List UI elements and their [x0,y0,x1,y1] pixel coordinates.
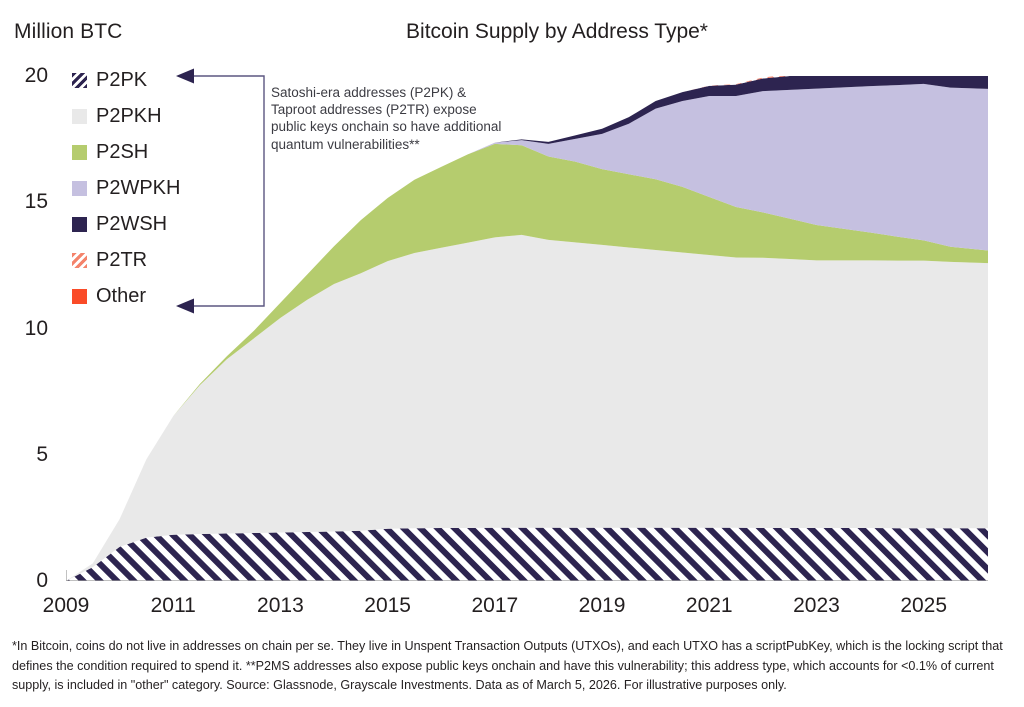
legend-item-p2sh[interactable]: P2SH [72,134,202,170]
x-tick-label: 2021 [686,594,733,618]
legend-label: P2WSH [96,213,167,236]
legend-label: P2SH [96,141,148,164]
x-tick-label: 2023 [793,594,840,618]
legend-item-p2tr[interactable]: P2TR [72,242,202,278]
legend-swatch-p2tr-icon [72,253,87,268]
legend-swatch-p2pk-icon [72,73,87,88]
x-tick-label: 2017 [471,594,518,618]
y-tick-label: 20 [25,64,48,88]
chart-legend: P2PKP2PKHP2SHP2WPKHP2WSHP2TROther [72,62,202,314]
area-series-p2pk [66,528,988,581]
legend-label: P2PKH [96,105,162,128]
legend-label: Other [96,285,146,308]
legend-label: P2WPKH [96,177,180,200]
x-tick-label: 2019 [579,594,626,618]
legend-swatch-p2wsh-icon [72,217,87,232]
x-tick-label: 2011 [151,594,196,618]
legend-item-p2wpkh[interactable]: P2WPKH [72,170,202,206]
legend-item-p2pk[interactable]: P2PK [72,62,202,98]
x-tick-label: 2015 [364,594,411,618]
legend-item-p2wsh[interactable]: P2WSH [72,206,202,242]
annotation-callout-text: Satoshi-era addresses (P2PK) & Taproot a… [271,84,506,153]
series-layer [66,76,988,581]
legend-swatch-p2wpkh-icon [72,181,87,196]
legend-item-p2pkh[interactable]: P2PKH [72,98,202,134]
chart-title: Bitcoin Supply by Address Type* [0,20,1024,44]
y-axis-ticks: 20151050 [0,0,62,707]
x-tick-label: 2025 [900,594,947,618]
y-tick-label: 15 [25,190,48,214]
x-tick-label: 2013 [257,594,304,618]
chart-footnote: *In Bitcoin, coins do not live in addres… [12,637,1014,696]
legend-label: P2TR [96,249,147,272]
y-tick-label: 0 [36,569,48,593]
chart-plot-area [66,76,988,581]
legend-item-other[interactable]: Other [72,278,202,314]
stacked-area-chart [66,76,988,581]
y-tick-label: 10 [25,317,48,341]
legend-swatch-p2pkh-icon [72,109,87,124]
legend-swatch-p2sh-icon [72,145,87,160]
x-tick-label: 2009 [43,594,90,618]
legend-label: P2PK [96,69,147,92]
y-tick-label: 5 [36,443,48,467]
legend-swatch-other-icon [72,289,87,304]
